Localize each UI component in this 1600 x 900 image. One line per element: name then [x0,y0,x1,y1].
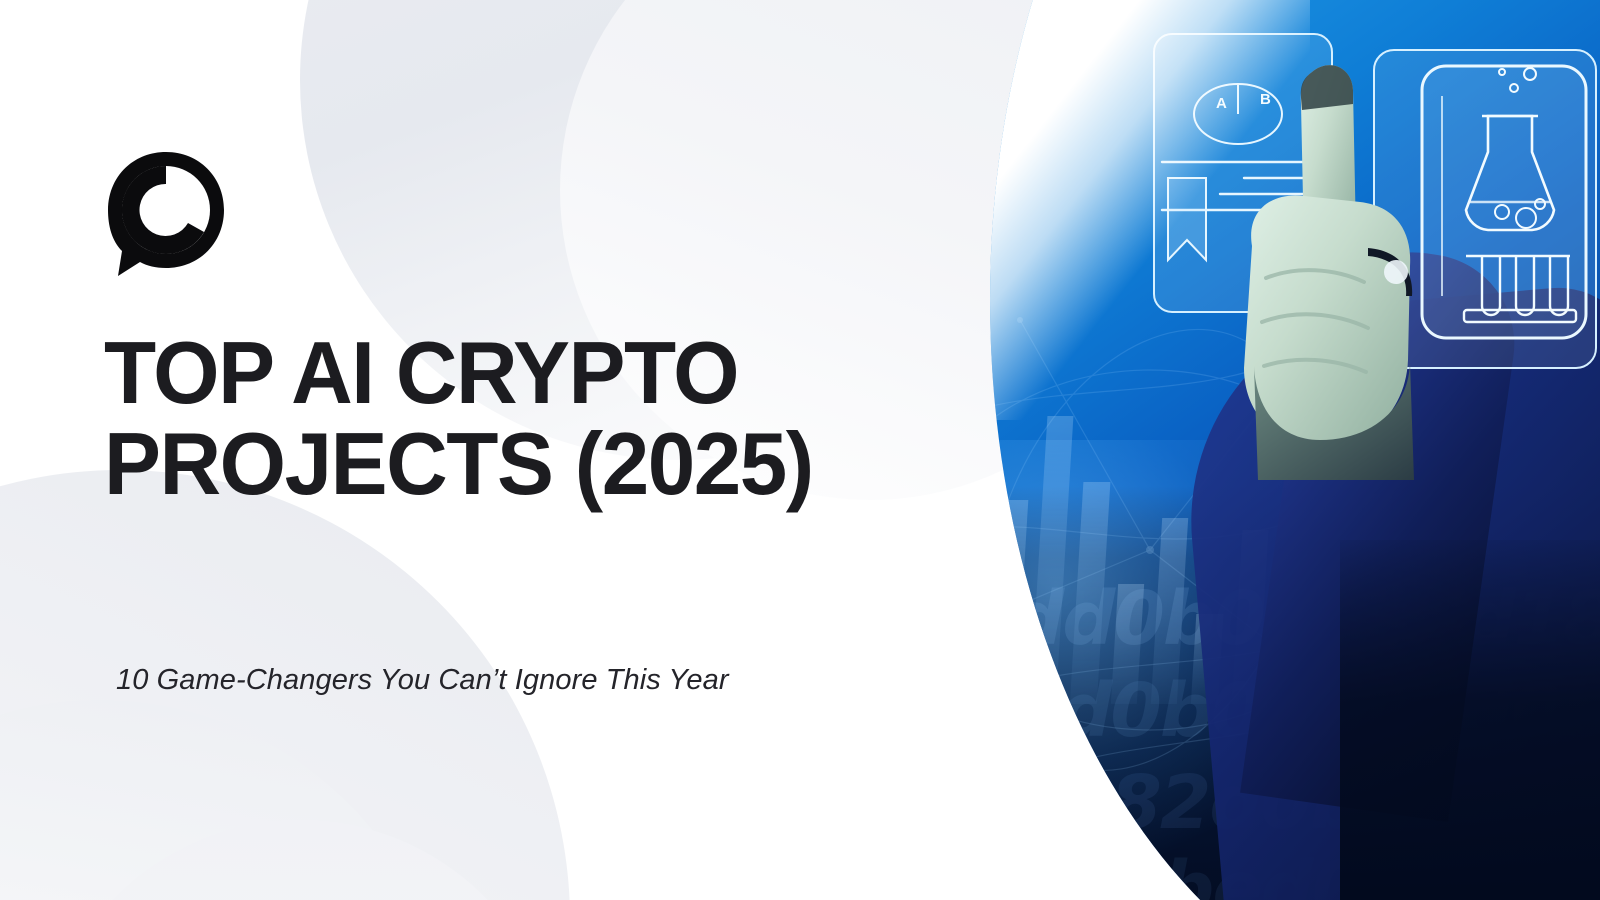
deco-circle-bottom-c [40,820,560,900]
hero-top-left-fade [900,0,1310,420]
hero-image: d0bdd0b0d183d187d0bdd0be d183d0b0d183d0b… [900,0,1600,900]
brand-logo[interactable] [104,150,228,280]
deco-circle-bottom-b [0,700,450,900]
page-subtitle: 10 Game-Changers You Can’t Ignore This Y… [116,660,806,701]
bar [989,500,1028,704]
banner-root: TOP AI CRYPTO PROJECTS (2025) 10 Game-Ch… [0,0,1600,900]
hero-bottom-shadow [1340,540,1600,900]
hero-image-clip: d0bdd0b0d183d187d0bdd0be d183d0b0d183d0b… [900,0,1600,900]
bar [909,548,945,704]
page-title: TOP AI CRYPTO PROJECTS (2025) [104,328,861,509]
speech-bubble-c-logo-icon [108,152,224,276]
bar [949,452,991,704]
